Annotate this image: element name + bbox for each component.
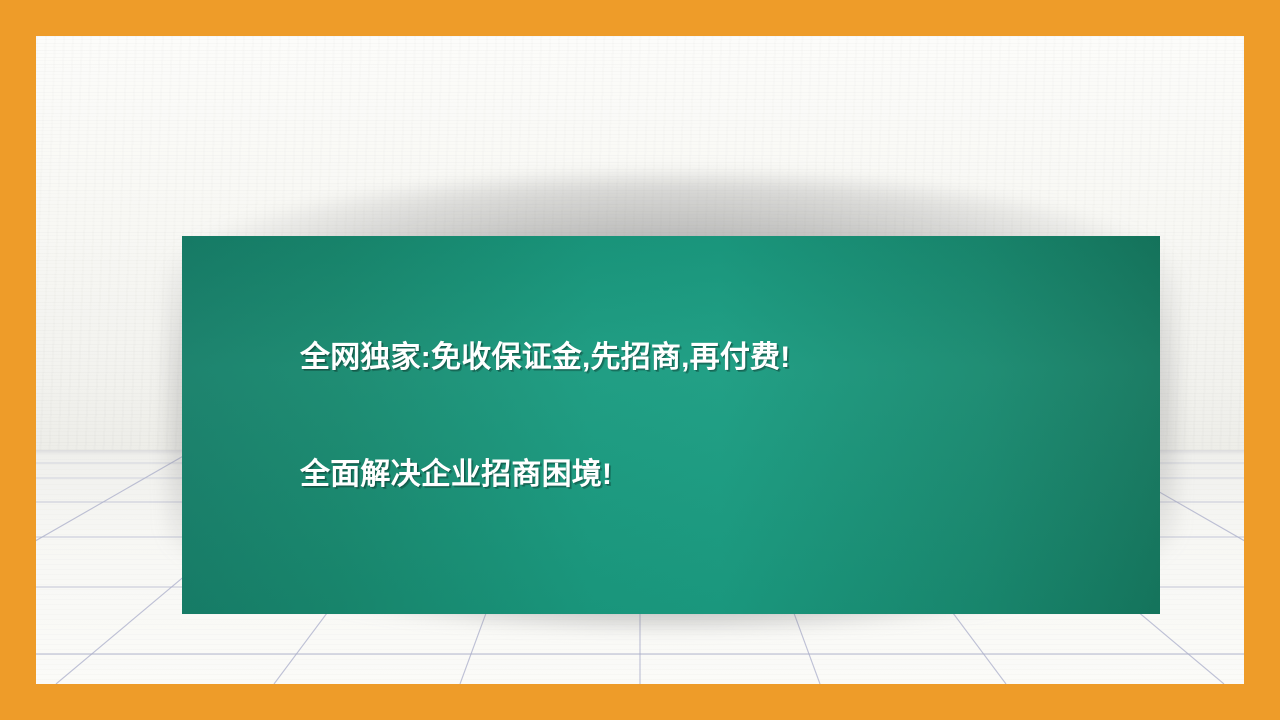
panel-line-1: 全网独家:免收保证金,先招商,再付费! bbox=[300, 338, 1160, 377]
panel-text-block: 全网独家:免收保证金,先招商,再付费! 全面解决企业招商困境! 合作即签订保障协… bbox=[300, 260, 1160, 684]
slide-canvas: 全网独家:免收保证金,先招商,再付费! 全面解决企业招商困境! 合作即签订保障协… bbox=[0, 0, 1280, 720]
panel-spacer-1 bbox=[300, 572, 1160, 607]
room-background: 全网独家:免收保证金,先招商,再付费! 全面解决企业招商困境! 合作即签订保障协… bbox=[36, 36, 1244, 684]
panel-line-2: 全面解决企业招商困境! bbox=[300, 455, 1160, 494]
green-message-panel: 全网独家:免收保证金,先招商,再付费! 全面解决企业招商困境! 合作即签订保障协… bbox=[182, 236, 1160, 614]
